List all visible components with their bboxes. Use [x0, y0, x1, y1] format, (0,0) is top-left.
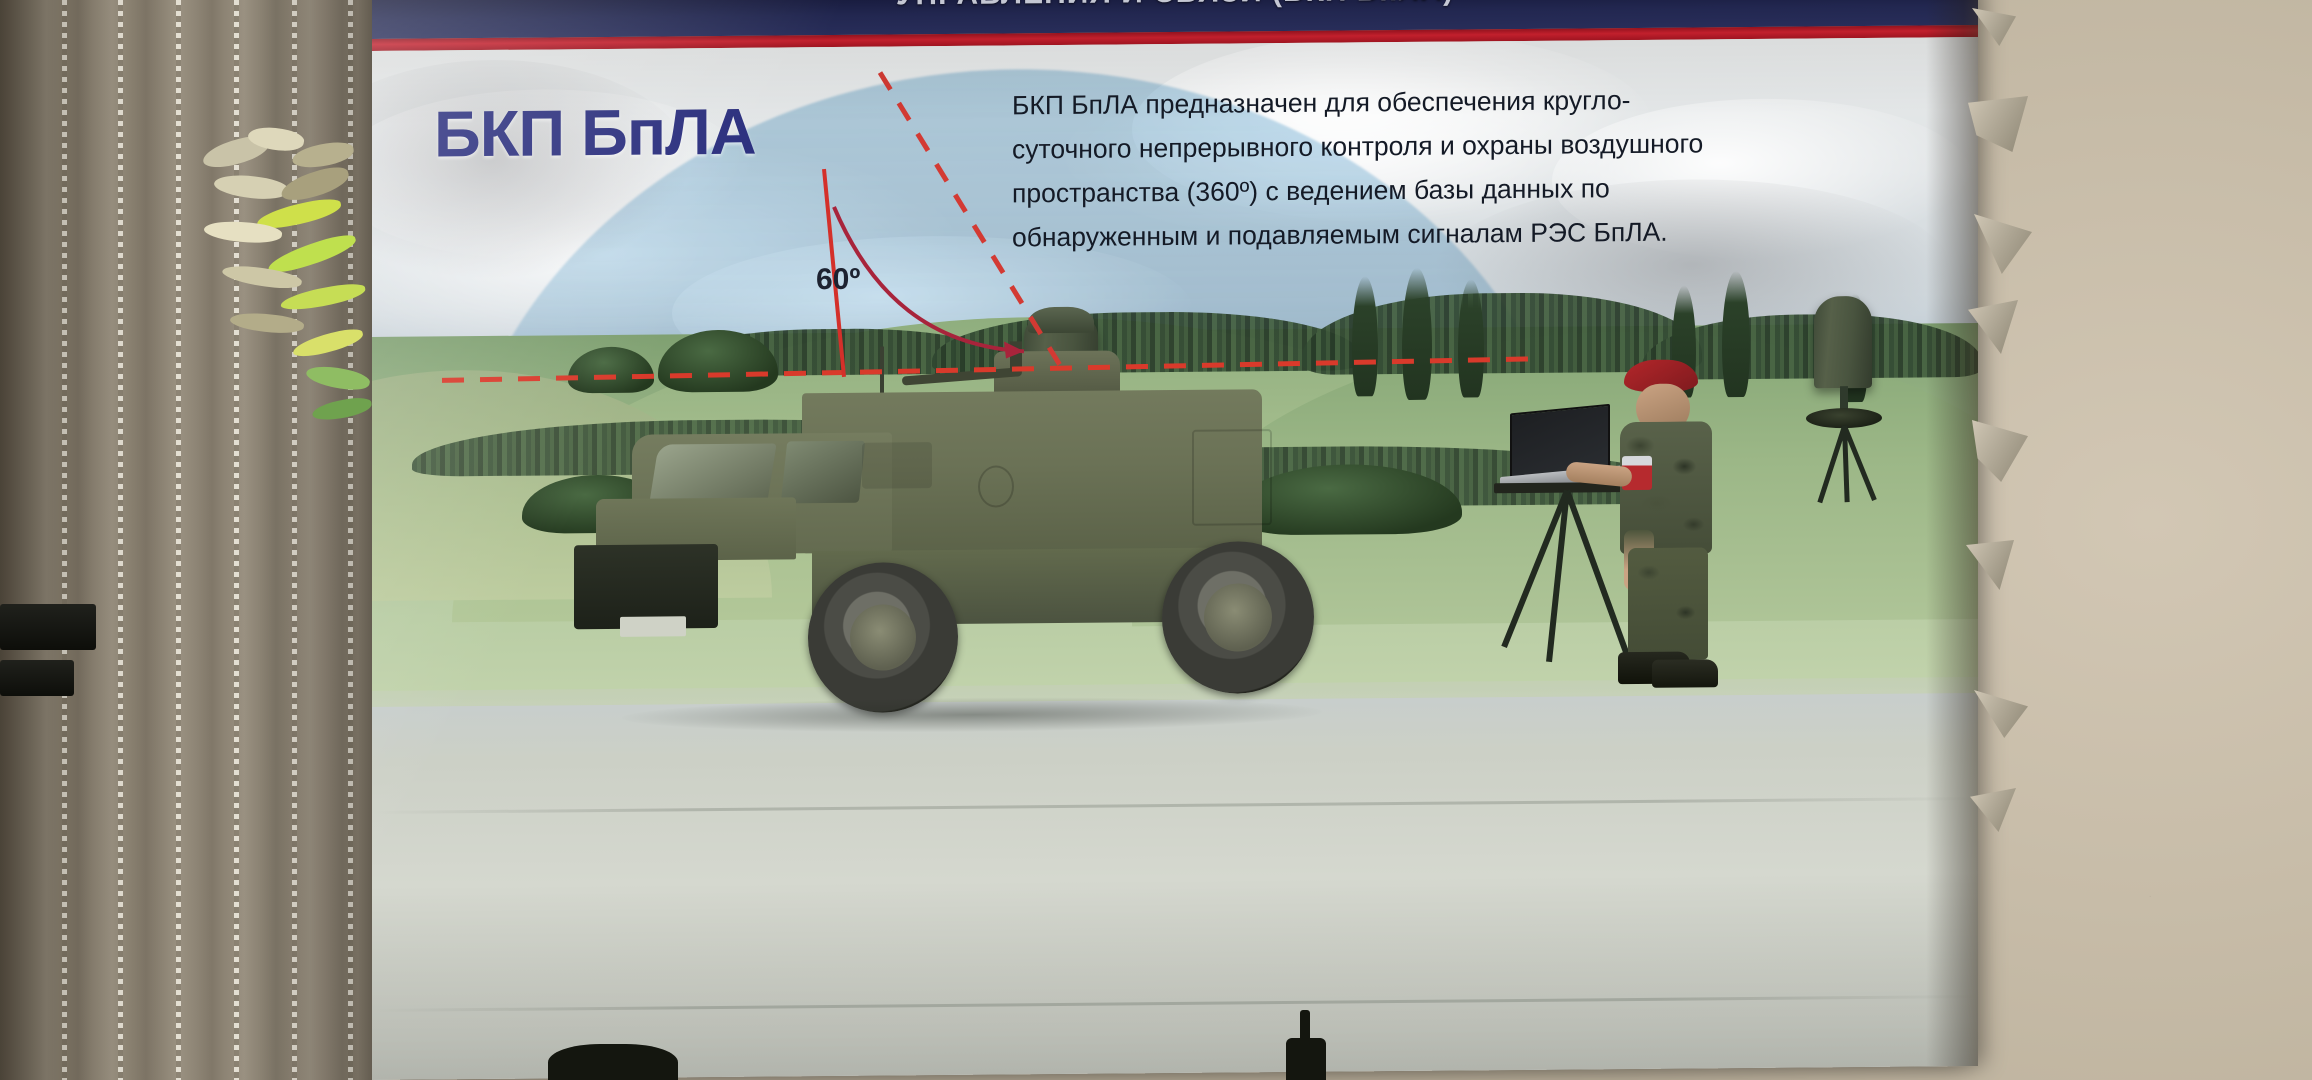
- shelf-object: [0, 660, 74, 696]
- description-line-3: пространства (360º) с ведением базы данн…: [1012, 164, 1872, 216]
- curtain-shading: [0, 0, 372, 1080]
- foreground-object-stem: [1300, 1010, 1310, 1046]
- information-poster: УПРАВЛЕНИЯ И СВЯЗИ (БКП БпЛА): [372, 0, 1978, 1080]
- foreground-object: [548, 1044, 678, 1080]
- description-line-1: БКП БпЛА предназначен для обеспечения кр…: [1012, 76, 1872, 128]
- poster-torn-edge: [1926, 0, 1978, 1066]
- window-curtain[interactable]: [0, 0, 372, 1080]
- screenshot-root: УПРАВЛЕНИЯ И СВЯЗИ (БКП БпЛА): [0, 0, 2312, 1080]
- poster-body: БКП БпЛА БКП БпЛА предназначен для обесп…: [372, 37, 1978, 1080]
- description-line-2: суточного непрерывного контроля и охраны…: [1012, 120, 1872, 172]
- elevation-angle-label: 60º: [816, 263, 860, 297]
- description-line-4: обнаруженным и подавляемым сигналам РЭС …: [1012, 208, 1872, 260]
- poster-description: БКП БпЛА предназначен для обеспечения кр…: [1012, 76, 1872, 260]
- horizon-baseline-dashed: [442, 359, 1532, 381]
- arc-arrowhead: [1004, 341, 1024, 358]
- poster-title: БКП БпЛА: [434, 94, 756, 172]
- elevation-arc: [834, 205, 1024, 353]
- shelf-object: [0, 604, 96, 650]
- poster-header-title: УПРАВЛЕНИЯ И СВЯЗИ (БКП БпЛА): [372, 0, 1978, 17]
